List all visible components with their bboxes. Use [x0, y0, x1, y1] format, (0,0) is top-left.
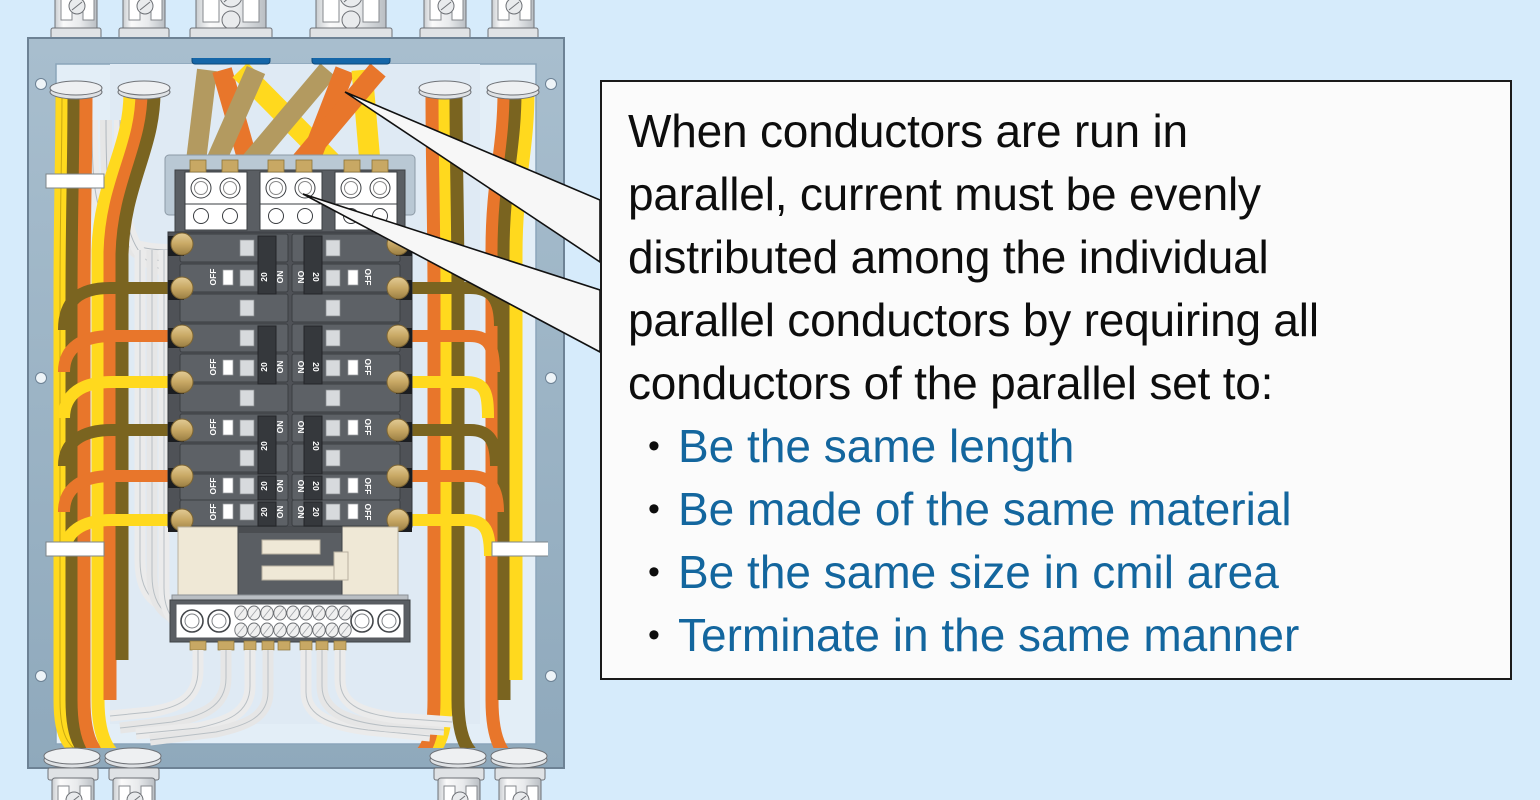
svg-text:20: 20	[311, 507, 321, 517]
illustration-stage: OFF 20 ON ON 20 OFF OFF 20 ON ON 20 OFF …	[0, 0, 1540, 800]
svg-text:OFF: OFF	[363, 504, 373, 521]
svg-text:20: 20	[259, 272, 269, 282]
svg-text:20: 20	[259, 362, 269, 372]
svg-text:20: 20	[259, 507, 269, 517]
svg-text:ON: ON	[296, 480, 306, 493]
bullet-icon: •	[648, 604, 660, 667]
svg-text:20: 20	[311, 441, 321, 451]
neutral-ground-bar	[170, 595, 410, 650]
bullet-icon: •	[648, 478, 660, 541]
panel-lower-body	[178, 527, 398, 597]
svg-text:OFF: OFF	[208, 269, 218, 286]
svg-text:OFF: OFF	[208, 419, 218, 436]
list-item-label: Be the same size in cmil area	[678, 546, 1279, 598]
svg-text:OFF: OFF	[208, 478, 218, 495]
list-item-label: Terminate in the same manner	[678, 609, 1299, 661]
svg-text:ON: ON	[296, 506, 306, 519]
bullet-icon: •	[648, 415, 660, 478]
svg-text:20: 20	[311, 272, 321, 282]
list-item: • Be the same length	[628, 415, 1488, 478]
list-item: • Be made of the same material	[628, 478, 1488, 541]
svg-text:OFF: OFF	[208, 504, 218, 521]
svg-text:OFF: OFF	[208, 359, 218, 376]
svg-text:ON: ON	[275, 480, 285, 493]
svg-text:20: 20	[259, 441, 269, 451]
bullet-icon: •	[648, 541, 660, 604]
requirements-list: • Be the same length • Be made of the sa…	[628, 415, 1488, 667]
svg-text:ON: ON	[275, 361, 285, 374]
svg-text:20: 20	[311, 362, 321, 372]
svg-text:OFF: OFF	[363, 269, 373, 286]
svg-text:ON: ON	[275, 271, 285, 284]
svg-text:20: 20	[259, 481, 269, 491]
list-item: • Terminate in the same manner	[628, 604, 1488, 667]
list-item-label: Be made of the same material	[678, 483, 1292, 535]
callout-text-box: When conductors are run in parallel, cur…	[600, 80, 1512, 680]
svg-text:ON: ON	[275, 506, 285, 519]
list-item: • Be the same size in cmil area	[628, 541, 1488, 604]
svg-text:OFF: OFF	[363, 478, 373, 495]
circuit-breaker-stack: OFF 20 ON ON 20 OFF OFF 20 ON ON 20 OFF …	[168, 232, 412, 532]
svg-text:OFF: OFF	[363, 359, 373, 376]
paragraph-line: parallel conductors by requiring all	[628, 289, 1488, 352]
svg-text:ON: ON	[296, 361, 306, 374]
paragraph-line: distributed among the individual	[628, 226, 1488, 289]
callout-paragraph: When conductors are run in parallel, cur…	[628, 100, 1488, 415]
svg-text:ON: ON	[296, 271, 306, 284]
svg-text:ON: ON	[296, 421, 306, 434]
svg-text:OFF: OFF	[363, 419, 373, 436]
list-item-label: Be the same length	[678, 420, 1074, 472]
paragraph-line: parallel, current must be evenly	[628, 163, 1488, 226]
paragraph-line: conductors of the parallel set to:	[628, 352, 1488, 415]
svg-text:20: 20	[311, 481, 321, 491]
paragraph-line: When conductors are run in	[628, 100, 1488, 163]
svg-text:ON: ON	[275, 421, 285, 434]
